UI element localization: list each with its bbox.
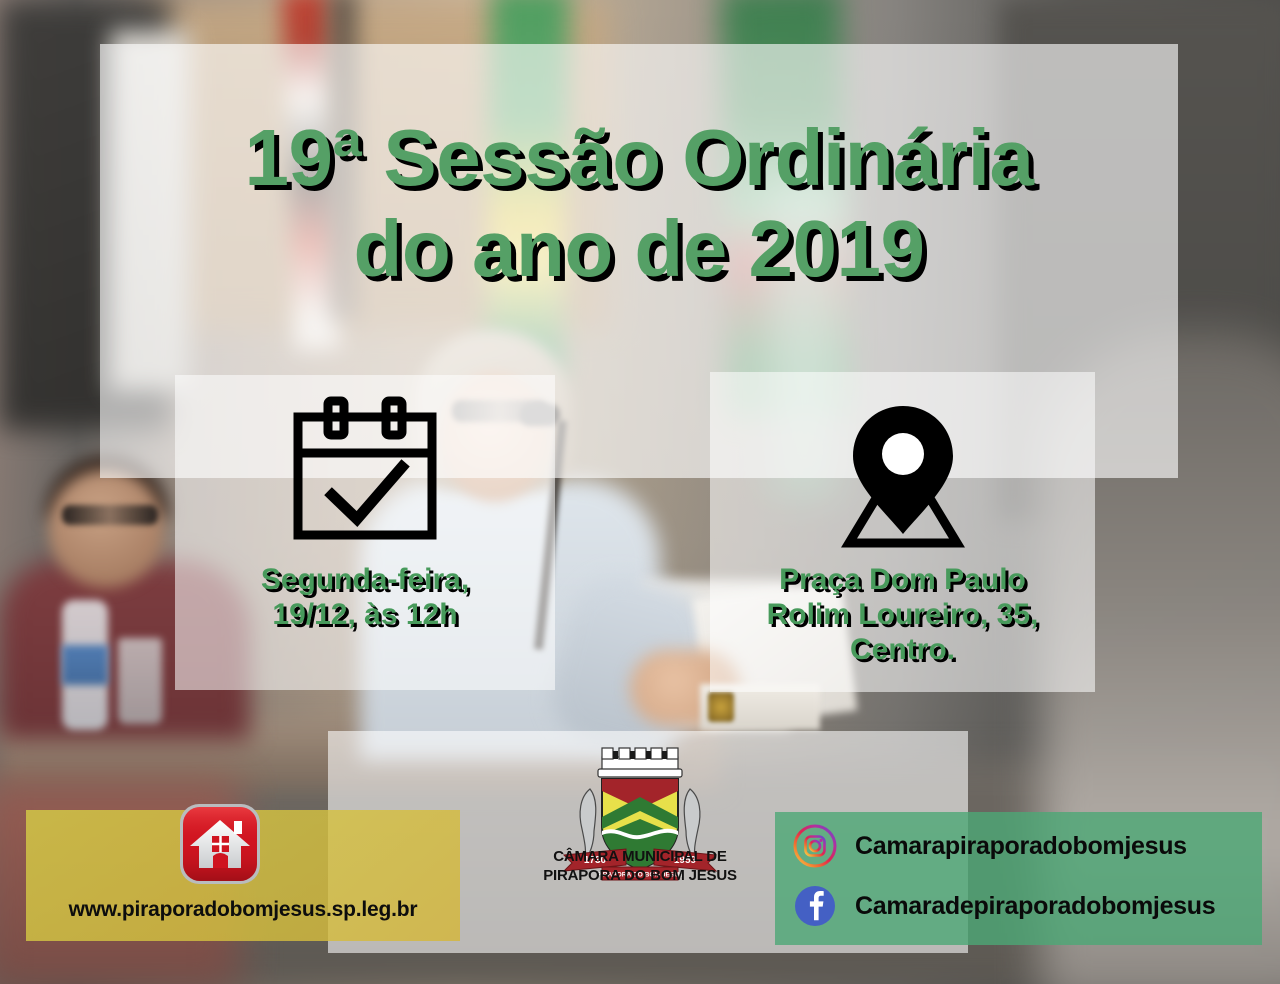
instagram-icon[interactable] bbox=[793, 824, 837, 868]
date-info-block: Segunda-feira, 19/12, às 12h bbox=[175, 395, 555, 633]
seated-councilman bbox=[48, 470, 164, 588]
date-text: Segunda-feira, 19/12, às 12h bbox=[175, 563, 555, 633]
crest-title: CÂMARA MUNICIPAL DE PIRAPORA DO BOM JESU… bbox=[530, 848, 750, 886]
title-line-2: do ano de 2019 bbox=[100, 203, 1178, 294]
location-text: Praça Dom Paulo Rolim Loureiro, 35, Cent… bbox=[710, 563, 1095, 667]
session-announcement-poster: 19ª Sessão Ordinária do ano de 2019 Segu… bbox=[0, 0, 1280, 984]
location-line-2: Rolim Loureiro, 35, bbox=[767, 598, 1039, 631]
facebook-icon[interactable] bbox=[793, 884, 837, 928]
instagram-handle[interactable]: Camarapiraporadobomjesus bbox=[855, 832, 1187, 861]
facebook-handle[interactable]: Camaradepiraporadobomjesus bbox=[855, 892, 1215, 921]
date-line-2: 19/12, às 12h bbox=[272, 598, 457, 631]
calendar-check-icon bbox=[280, 395, 450, 555]
crest-title-line-2: PIRAPORA DO BOM JESUS bbox=[543, 867, 737, 884]
facebook-row[interactable]: Camaradepiraporadobomjesus bbox=[793, 884, 1215, 928]
instagram-row[interactable]: Camarapiraporadobomjesus bbox=[793, 824, 1187, 868]
location-info-block: Praça Dom Paulo Rolim Loureiro, 35, Cent… bbox=[710, 400, 1095, 667]
location-line-1: Praça Dom Paulo bbox=[779, 563, 1026, 596]
map-pin-icon bbox=[823, 400, 983, 555]
date-line-1: Segunda-feira, bbox=[261, 563, 469, 596]
home-icon[interactable] bbox=[178, 802, 262, 886]
website-url[interactable]: www.piraporadobomjesus.sp.leg.br bbox=[26, 898, 460, 922]
crest-title-line-1: CÂMARA MUNICIPAL DE bbox=[553, 848, 726, 865]
page-title: 19ª Sessão Ordinária do ano de 2019 bbox=[100, 112, 1178, 294]
title-line-1: 19ª Sessão Ordinária bbox=[245, 113, 1034, 202]
location-line-3: Centro. bbox=[850, 633, 955, 666]
